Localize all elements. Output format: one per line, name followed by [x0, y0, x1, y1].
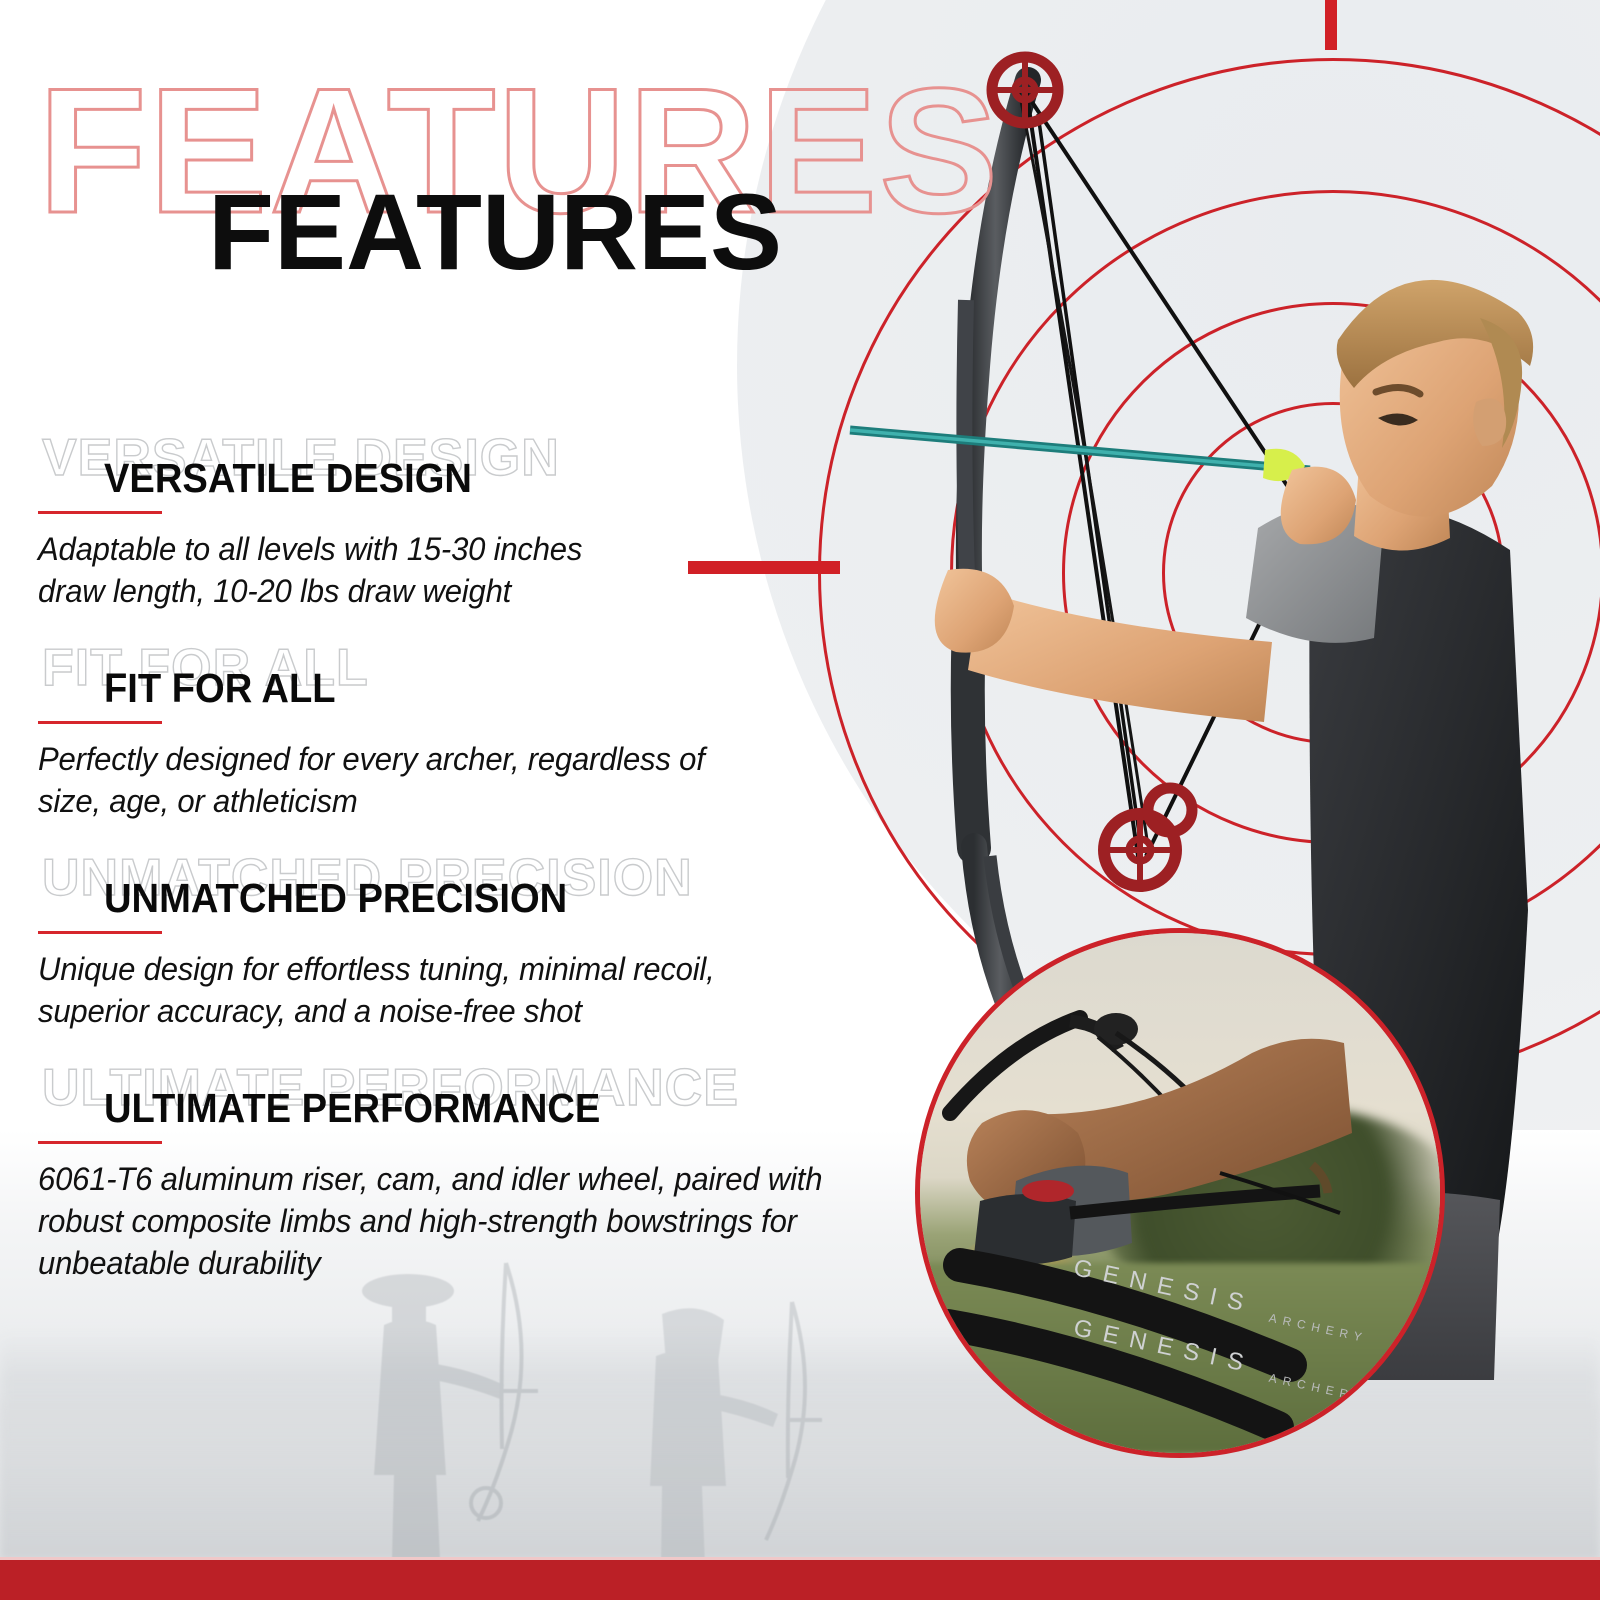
bottom-bar: [0, 1560, 1600, 1600]
page-title: FEATURES: [208, 178, 782, 286]
feature-body-text: Perfectly designed for every archer, reg…: [38, 738, 717, 822]
feature-underline: [38, 721, 162, 724]
feature-body-text: 6061-T6 aluminum riser, cam, and idler w…: [38, 1158, 853, 1285]
infographic-canvas: GENESIS ARCHERY GENESIS ARCHERY FEATURES…: [0, 0, 1600, 1600]
feature-underline: [38, 931, 162, 934]
feature-heading: FIT FOR ALL: [104, 668, 336, 709]
crosshair-tick-top: [1325, 0, 1337, 50]
inset-bow-and-hand: [920, 933, 1440, 1453]
feature-underline: [38, 1141, 162, 1144]
ghost-archer-right: [610, 1300, 850, 1570]
crosshair-tick-left: [688, 561, 840, 574]
inset-photo-circle: GENESIS ARCHERY GENESIS ARCHERY: [915, 928, 1445, 1458]
feature-body-text: Adaptable to all levels with 15-30 inche…: [38, 528, 630, 612]
feature-body-text: Unique design for effortless tuning, min…: [38, 948, 770, 1032]
feature-heading: UNMATCHED PRECISION: [104, 878, 567, 919]
feature-heading: VERSATILE DESIGN: [104, 458, 472, 499]
feature-underline: [38, 511, 162, 514]
ghost-archer-left: [330, 1255, 590, 1565]
feature-heading: ULTIMATE PERFORMANCE: [104, 1088, 600, 1129]
